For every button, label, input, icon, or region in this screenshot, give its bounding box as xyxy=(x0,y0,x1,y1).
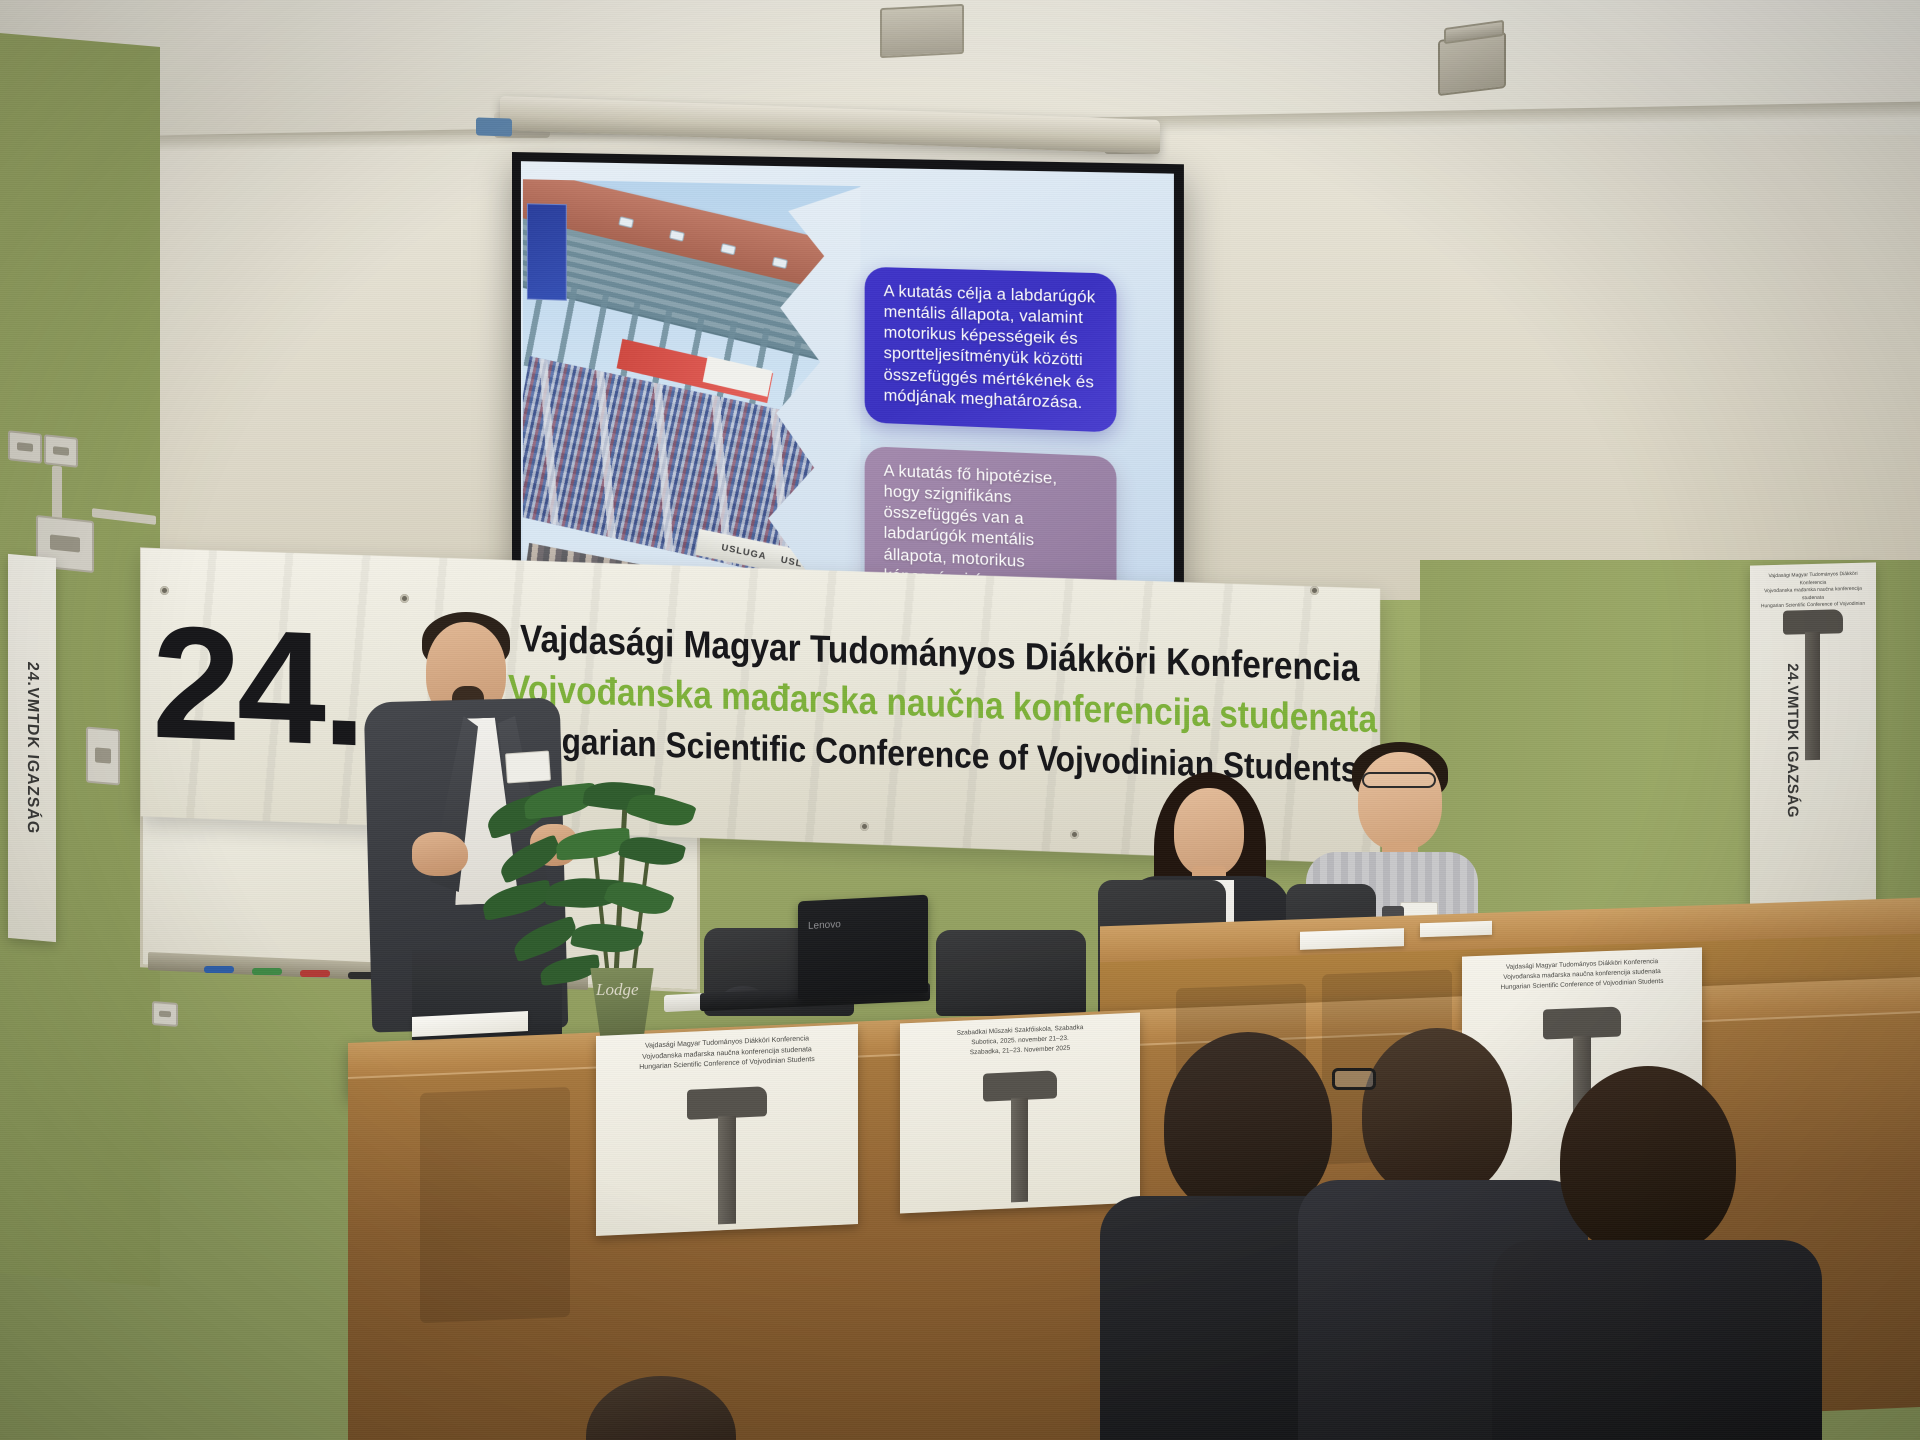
poster-right-vertical: Vajdasági Magyar Tudományos Diákköri Kon… xyxy=(1750,562,1876,917)
jury-1-head xyxy=(1174,788,1244,876)
hammer-handle xyxy=(1805,632,1820,760)
wall-conduit-vertical xyxy=(52,466,62,523)
audience-2-head xyxy=(1362,1028,1512,1198)
hammer-handle-center xyxy=(718,1116,736,1225)
research-aim-text: A kutatás célja a labdarúgók mentális ál… xyxy=(884,283,1096,412)
audience-1-head xyxy=(1164,1032,1332,1218)
table-poster-far-right-lines: Vajdasági Magyar Tudományos Diákköri Kon… xyxy=(1468,956,1696,994)
table-panel-carve-1 xyxy=(420,1087,570,1323)
chair-empty-2[interactable] xyxy=(936,930,1086,1016)
poster-left-vertical-text: 24.VMTDK IGAZSÁG xyxy=(23,661,41,835)
banner-edition-number: 24. xyxy=(152,608,362,764)
banner-grommet-3 xyxy=(860,822,869,831)
presenter-hand-left xyxy=(412,832,468,876)
poster-left-vertical: 24.VMTDK IGAZSÁG xyxy=(8,554,56,942)
hammer-handle-right xyxy=(1011,1098,1028,1203)
papers-on-desk-far-right[interactable] xyxy=(1420,921,1492,938)
table-poster-right-of-center: Szabadkai Műszaki Szakfőiskola, Szabadka… xyxy=(900,1013,1140,1214)
hammer-icon-table-right xyxy=(983,1070,1057,1203)
wall-switch-panel xyxy=(86,727,120,786)
papers-on-desk-jury[interactable] xyxy=(1300,928,1404,950)
ceiling-vent-left xyxy=(880,4,964,58)
conference-room-photo: USLUGA USLUGA A kutatás célja a labdarúg… xyxy=(0,0,1920,1440)
hammer-head-far-right xyxy=(1543,1007,1621,1040)
wall-socket-low xyxy=(152,1001,178,1027)
marker-blue[interactable] xyxy=(204,966,234,973)
hammer-head-center xyxy=(687,1086,767,1120)
banner-grommet-2 xyxy=(400,594,409,603)
audience-3-head xyxy=(1560,1066,1736,1256)
jury-2-head xyxy=(1358,752,1442,850)
hammer-icon-table-center xyxy=(687,1086,767,1226)
table-poster-center-lines: Vajdasági Magyar Tudományos Diákköri Kon… xyxy=(602,1032,852,1075)
screen-sensor-icon xyxy=(476,117,512,136)
table-poster-center: Vajdasági Magyar Tudományos Diákköri Kon… xyxy=(596,1024,858,1236)
presenter-name-badge xyxy=(505,751,551,784)
wall-socket-a xyxy=(8,430,42,464)
jury-2-glasses-icon xyxy=(1362,772,1436,788)
marker-green[interactable] xyxy=(252,968,282,975)
usluga-text-1: USLUGA xyxy=(721,542,767,561)
table-poster-right-lines: Szabadkai Műszaki Szakfőiskola, Szabadka… xyxy=(906,1021,1134,1061)
laptop-lid[interactable] xyxy=(798,895,928,1000)
laptop-brand-label: Lenovo xyxy=(808,919,841,932)
banner-grommet-5 xyxy=(1310,586,1319,595)
audience-2-glasses-icon xyxy=(1332,1068,1376,1090)
plant-pot-label: Lodge xyxy=(596,980,639,1000)
slide-callout-research-aim: A kutatás célja a labdarúgók mentális ál… xyxy=(865,267,1117,433)
photo-inset-top-left xyxy=(527,203,567,300)
wall-socket-b xyxy=(44,434,78,468)
banner-grommet-4 xyxy=(1070,830,1079,839)
poster-right-vertical-text: 24.VMTDK IGAZSÁG xyxy=(1784,663,1801,818)
audience-3-body xyxy=(1492,1240,1822,1440)
hammer-head xyxy=(1783,609,1843,635)
marker-red[interactable] xyxy=(300,970,330,977)
